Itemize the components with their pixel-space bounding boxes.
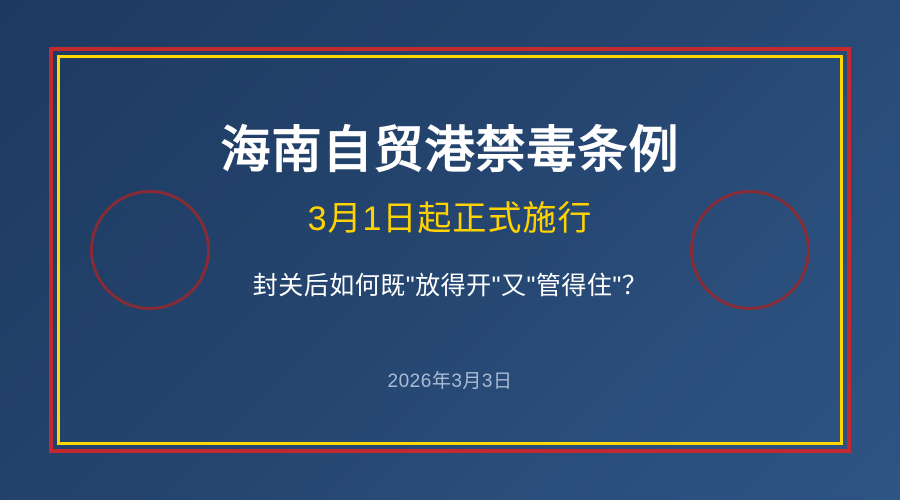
poster-content: 海南自贸港禁毒条例 3月1日起正式施行 封关后如何既"放得开"又"管得住"？ 2… [57, 55, 843, 445]
poster-canvas: 海南自贸港禁毒条例 3月1日起正式施行 封关后如何既"放得开"又"管得住"？ 2… [0, 0, 900, 500]
poster-title: 海南自贸港禁毒条例 [221, 125, 680, 175]
poster-subtitle: 3月1日起正式施行 [308, 202, 593, 236]
poster-question-line: 封关后如何既"放得开"又"管得住"？ [253, 274, 648, 299]
poster-date: 2026年3月3日 [388, 372, 513, 391]
